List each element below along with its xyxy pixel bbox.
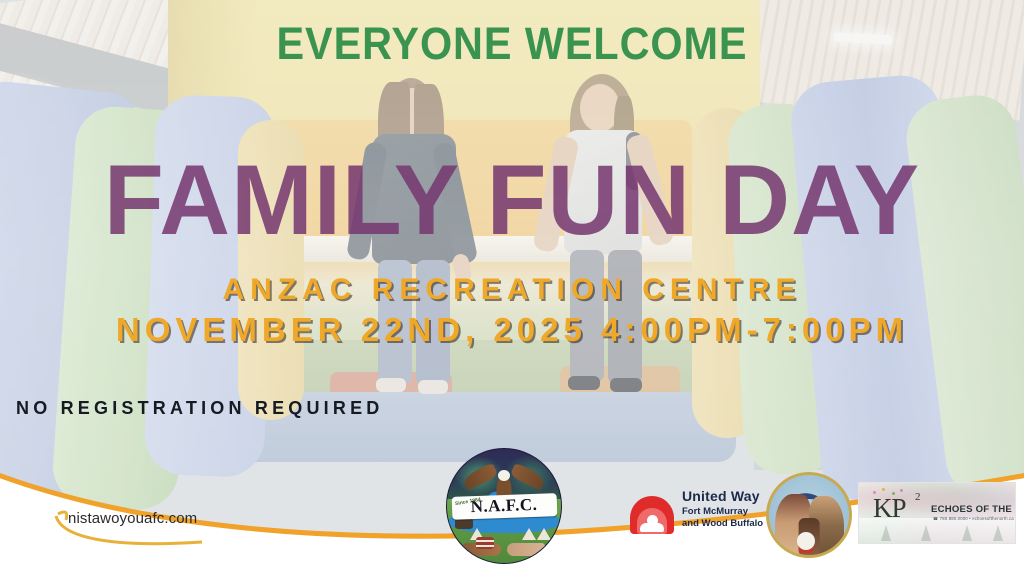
child-icon bbox=[797, 532, 815, 550]
website-url[interactable]: nistawoyouafc.com bbox=[68, 510, 197, 527]
echoes-name-text: ECHOES OF THE NORTH bbox=[931, 504, 1016, 515]
page-title: FAMILY FUN DAY bbox=[5, 150, 1019, 249]
nafc-logo: N.A.F.C. Since 1964 bbox=[446, 448, 562, 564]
kp-superscript: 2 bbox=[915, 491, 921, 503]
united-way-title: United Way bbox=[682, 488, 763, 504]
headline-everyone-welcome: EVERYONE WELCOME bbox=[41, 18, 983, 70]
nafc-abbreviation: N.A.F.C. bbox=[447, 493, 562, 520]
united-way-logo: United Way Fort McMurray and Wood Buffal… bbox=[630, 484, 780, 540]
united-way-region-line2: and Wood Buffalo bbox=[682, 518, 763, 530]
website-mark[interactable]: nistawoyouafc.com bbox=[52, 508, 232, 554]
united-way-mark-icon bbox=[630, 490, 674, 534]
united-way-text: United Way Fort McMurray and Wood Buffal… bbox=[682, 488, 763, 530]
event-datetime: NOVEMBER 22ND, 2025 4:00PM-7:00PM bbox=[0, 311, 1024, 349]
event-venue: ANZAC RECREATION CENTRE bbox=[0, 273, 1024, 307]
handshake-icon bbox=[463, 533, 545, 560]
event-details: ANZAC RECREATION CENTRE NOVEMBER 22ND, 2… bbox=[0, 273, 1024, 349]
indigenous-circle-logo bbox=[766, 472, 852, 558]
united-way-region: Fort McMurray and Wood Buffalo bbox=[682, 506, 763, 530]
event-poster: EVERYONE WELCOME FAMILY FUN DAY ANZAC RE… bbox=[0, 0, 1024, 576]
united-way-region-line1: Fort McMurray bbox=[682, 506, 763, 518]
echoes-of-the-north-logo: KP 2 ECHOES OF THE NORTH ☎ 780.880.0000 … bbox=[858, 482, 1016, 544]
echoes-contact-text: ☎ 780.880.0000 • echoesofthenorth.ca bbox=[933, 516, 1014, 521]
kp-monogram: KP bbox=[873, 493, 906, 524]
